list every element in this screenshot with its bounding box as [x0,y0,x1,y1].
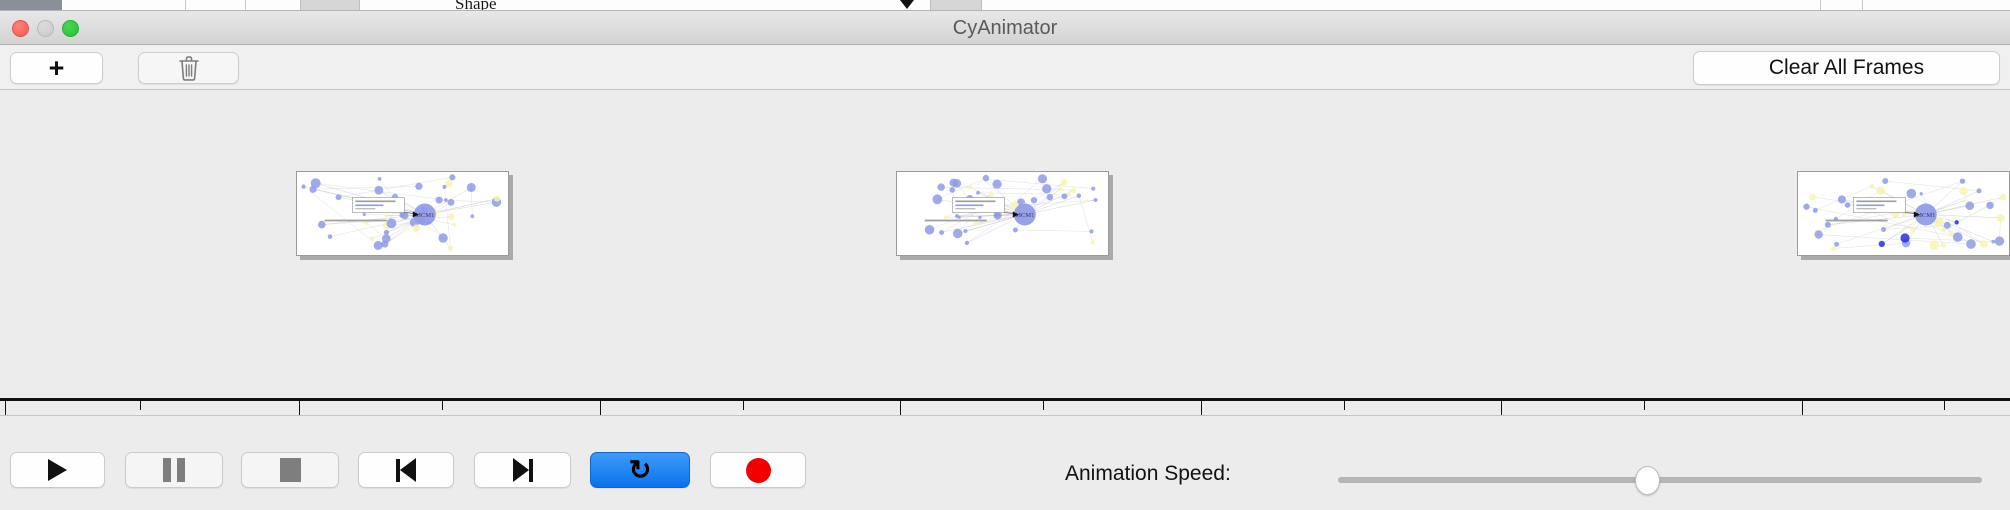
slider-thumb[interactable] [1635,466,1660,495]
clear-all-frames-label: Clear All Frames [1769,56,1924,80]
stop-button[interactable] [241,452,339,488]
axis-tick-minor [743,401,744,410]
background-window-box [930,0,982,11]
background-window-segment [1862,0,1902,11]
skip-back-icon [396,458,416,482]
skip-to-start-button[interactable] [358,452,454,488]
skip-forward-icon [513,458,533,482]
trash-icon [177,55,201,81]
clear-all-frames-button[interactable]: Clear All Frames [1693,51,2000,85]
timeline-frame-thumbnail[interactable]: MCM1 [1797,171,2010,256]
playback-bar: ↻ Animation Speed: [0,440,2010,510]
background-window-segment [245,0,300,11]
timeline-panel[interactable]: MCM1 MCM1 MCM1 2131415161718 Seconds [0,90,2010,416]
play-icon [48,459,67,481]
background-window-dark-segment [0,0,62,11]
axis-tick-minor [1043,401,1044,410]
axis-tick-major [600,401,601,416]
stop-icon [280,458,301,482]
plus-icon: + [49,55,65,82]
timeline-frame-thumbnail[interactable]: MCM1 [296,171,509,256]
animation-speed-slider[interactable] [1338,469,1982,491]
background-window-box [300,0,360,11]
axis-tick-major [1201,401,1202,416]
loop-icon: ↻ [629,457,652,484]
cyanimator-window: Shape CyAnimator + Clear All Frames [0,0,2010,510]
network-graph-thumbnail: MCM1 [297,172,509,256]
background-window-label: Shape [455,0,497,11]
slider-track [1338,477,1982,483]
title-bar: CyAnimator [0,11,2010,45]
network-graph-thumbnail: MCM1 [1798,172,2010,256]
axis-tick-minor [1344,401,1345,410]
axis-tick-major [1802,401,1803,416]
background-window-segment [185,0,245,11]
background-window-segment [1820,0,1860,11]
svg-text:MCM1: MCM1 [415,212,434,219]
record-button[interactable] [710,452,806,488]
delete-frame-button[interactable] [138,52,239,84]
axis-tick-minor [442,401,443,410]
timeline-frame-thumbnail[interactable]: MCM1 [896,171,1109,256]
axis-tick-major [900,401,901,416]
pause-icon [163,458,185,482]
background-window-strip: Shape [0,0,2010,11]
timeline-axis [0,398,2010,401]
toolbar: + Clear All Frames [0,45,2010,90]
window-title: CyAnimator [0,11,2010,45]
axis-tick-minor [140,401,141,410]
axis-tick-major [5,401,6,416]
record-icon [746,458,771,483]
pause-button[interactable] [125,452,223,488]
svg-text:MCM1: MCM1 [1916,212,1935,219]
axis-tick-major [299,401,300,416]
animation-speed-label: Animation Speed: [1065,462,1231,486]
axis-tick-minor [1944,401,1945,410]
background-window-triangle-icon [900,0,914,9]
skip-to-end-button[interactable] [474,452,571,488]
network-graph-thumbnail: MCM1 [897,172,1109,256]
loop-button[interactable]: ↻ [590,452,690,488]
svg-text:MCM1: MCM1 [1015,212,1034,219]
axis-tick-major [1501,401,1502,416]
add-frame-button[interactable]: + [10,52,103,84]
axis-tick-minor [1644,401,1645,410]
play-button[interactable] [10,452,105,488]
